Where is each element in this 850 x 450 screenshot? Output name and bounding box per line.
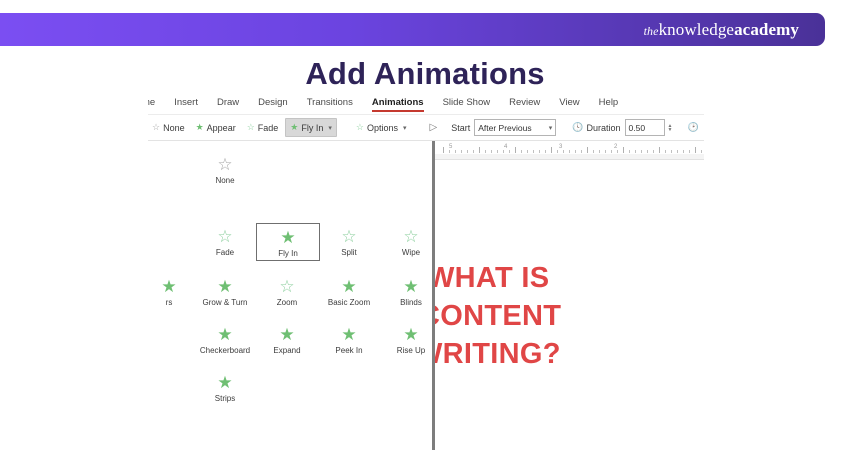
star-gray-icon: ☆ xyxy=(152,123,160,132)
ribbon-tab-label: Draw xyxy=(217,97,239,108)
ruler-tick xyxy=(593,150,594,153)
star-green-icon: ★ xyxy=(196,123,204,132)
gallery-item-label: None xyxy=(215,176,234,185)
ruler-tick xyxy=(491,150,492,153)
ribbon-tab-label: Slide Show xyxy=(443,97,491,108)
star-green-outline-icon: ☆ xyxy=(247,123,255,132)
ribbon-tab-design[interactable]: Design xyxy=(258,97,288,110)
ruler-tick xyxy=(587,147,588,153)
gallery-item-rs[interactable]: ★rs xyxy=(148,273,200,309)
ribbon-tab-label: me xyxy=(148,97,155,108)
ruler-tick xyxy=(455,150,456,153)
star-green-icon: ★ xyxy=(290,123,298,132)
ribbon-tab-me[interactable]: me xyxy=(148,97,155,110)
ruler-number: 4 xyxy=(504,144,507,150)
toolbar-options-button[interactable]: ☆ Options ▾ xyxy=(352,119,411,136)
ruler-tick xyxy=(623,147,624,153)
gallery-item-zoom[interactable]: ☆Zoom xyxy=(256,273,318,309)
toolbar-preview-button[interactable]: ▷ xyxy=(426,119,442,136)
gallery-item-label: Fade xyxy=(216,248,234,257)
ruler-tick xyxy=(611,150,612,153)
ruler-strip xyxy=(435,154,704,160)
gallery-item-label: Strips xyxy=(215,394,235,403)
chevron-down-icon[interactable]: ▾ xyxy=(328,124,332,132)
ribbon-tab-transitions[interactable]: Transitions xyxy=(307,97,353,110)
ruler-tick xyxy=(467,150,468,153)
star-green-icon: ★ xyxy=(403,325,418,344)
star-green-icon: ★ xyxy=(217,325,232,344)
gallery-item-peek-in[interactable]: ★Peek In xyxy=(318,321,380,357)
ruler-tick xyxy=(581,150,582,153)
gallery-item-label: Fly In xyxy=(278,249,298,258)
star-zoom-icon: ☆ xyxy=(279,277,294,296)
ruler-tick xyxy=(665,150,666,153)
gallery-item-strips[interactable]: ★Strips xyxy=(194,369,256,405)
toolbar-flyin-label: Fly In xyxy=(301,123,323,133)
ruler-tick xyxy=(629,150,630,153)
ruler-tick xyxy=(503,150,504,153)
ruler-tick xyxy=(635,150,636,153)
ribbon-tab-label: Review xyxy=(509,97,540,108)
ribbon-tab-label: Help xyxy=(599,97,619,108)
animation-gallery: ☆None☆Fade★Fly In☆Split☆Wipe★rs★Grow & T… xyxy=(148,141,432,450)
ruler-tick xyxy=(689,150,690,153)
play-triangle-icon: ▷ xyxy=(430,122,438,133)
ribbon-tab-label: Design xyxy=(258,97,288,108)
gallery-item-grow-turn[interactable]: ★Grow & Turn xyxy=(194,273,256,309)
ruler-tick xyxy=(605,150,606,153)
ruler-tick xyxy=(599,150,600,153)
ruler-tick xyxy=(677,150,678,153)
toolbar-duration-label: Duration xyxy=(586,123,620,133)
ruler-tick xyxy=(575,150,576,153)
slide-text-line: WHAT IS xyxy=(435,259,561,297)
ruler-tick xyxy=(701,150,702,153)
gallery-item-split[interactable]: ☆Split xyxy=(318,223,380,259)
duration-stepper[interactable]: ▲▼ xyxy=(668,124,673,132)
ruler-tick xyxy=(449,150,450,153)
ruler-tick xyxy=(683,150,684,153)
star-outline-icon: ☆ xyxy=(217,227,232,246)
toolbar-appear-label: Appear xyxy=(207,123,236,133)
powerpoint-window: meInsertDrawDesignTransitionsAnimationsS… xyxy=(148,92,704,450)
gallery-item-checkerboard[interactable]: ★Checkerboard xyxy=(194,321,256,357)
ribbon-tab-slide-show[interactable]: Slide Show xyxy=(443,97,491,110)
ruler-tick xyxy=(479,147,480,153)
ruler-tick xyxy=(695,147,696,153)
ruler-tick xyxy=(545,150,546,153)
gallery-item-label: Grow & Turn xyxy=(203,298,248,307)
brand-logo-academy: academy xyxy=(734,20,799,39)
gallery-item-basic-zoom[interactable]: ★Basic Zoom xyxy=(318,273,380,309)
ruler-tick xyxy=(551,147,552,153)
slide-editing-area: 5432 WHAT ISCONTENTWRITING? 0 ⚑ xyxy=(435,141,704,450)
duration-input-value: 0.50 xyxy=(629,123,646,133)
ruler-tick xyxy=(653,150,654,153)
ruler-number: 2 xyxy=(614,144,617,150)
ribbon-tab-bar: meInsertDrawDesignTransitionsAnimationsS… xyxy=(148,92,704,115)
start-select-value: After Previous xyxy=(478,123,531,133)
ribbon-tab-help[interactable]: Help xyxy=(599,97,619,110)
start-select[interactable]: After Previous ▾ xyxy=(474,119,556,136)
gallery-item-fade[interactable]: ☆Fade xyxy=(194,223,256,259)
slide-text-line: WRITING? xyxy=(435,335,561,373)
page-title: Add Animations xyxy=(0,56,850,92)
toolbar-start-group: Start After Previous ▾ xyxy=(444,119,560,136)
gallery-item-expand[interactable]: ★Expand xyxy=(256,321,318,357)
ribbon-tab-label: View xyxy=(559,97,579,108)
star-green-icon: ★ xyxy=(280,228,295,247)
slide-text-line: CONTENT xyxy=(435,297,561,335)
toolbar-fade-button[interactable]: ☆ Fade xyxy=(243,119,283,136)
ribbon-tab-draw[interactable]: Draw xyxy=(217,97,239,110)
clock-icon: 🕓 xyxy=(572,122,583,133)
gallery-item-label: Expand xyxy=(273,346,300,355)
ruler-tick xyxy=(527,150,528,153)
gallery-item-none[interactable]: ☆None xyxy=(194,151,256,187)
star-outline-icon: ☆ xyxy=(403,227,418,246)
ribbon-tab-label: Insert xyxy=(174,97,198,108)
star-gray-icon: ☆ xyxy=(217,155,232,174)
clock-red-icon: 🕑 xyxy=(687,122,698,133)
ruler-tick xyxy=(521,150,522,153)
star-split-icon: ☆ xyxy=(341,227,356,246)
toolbar-fade-label: Fade xyxy=(258,123,279,133)
ruler-number: 5 xyxy=(449,144,452,150)
star-clipped-icon: ★ xyxy=(161,277,176,296)
brand-logo: theknowledgeacademy xyxy=(644,20,825,40)
slide-title-text[interactable]: WHAT ISCONTENTWRITING? xyxy=(435,259,561,373)
ruler-tick xyxy=(641,150,642,153)
ribbon-tab-view[interactable]: View xyxy=(559,97,579,110)
ruler-tick xyxy=(617,150,618,153)
ruler-tick xyxy=(473,150,474,153)
ruler-tick xyxy=(557,150,558,153)
gallery-item-label: Wipe xyxy=(402,248,420,257)
ribbon-toolbar: ☆ None ★ Appear ☆ Fade ★ Fly In ▾ ☆ Opti… xyxy=(148,115,704,141)
toolbar-delay-group[interactable]: 🕑 xyxy=(683,119,702,136)
gallery-item-label: Zoom xyxy=(277,298,297,307)
gallery-item-label: Basic Zoom xyxy=(328,298,370,307)
duration-input[interactable]: 0.50 xyxy=(625,119,665,136)
star-green-icon: ★ xyxy=(403,277,418,296)
ruler-tick xyxy=(659,147,660,153)
ribbon-tab-insert[interactable]: Insert xyxy=(174,97,198,110)
toolbar-duration-group: 🕓 Duration 0.50 ▲▼ xyxy=(568,119,676,136)
ruler-tick xyxy=(671,150,672,153)
ruler-tick xyxy=(569,150,570,153)
toolbar-none-label: None xyxy=(163,123,185,133)
star-green-icon: ★ xyxy=(279,325,294,344)
star-green-icon: ★ xyxy=(341,325,356,344)
ruler-tick xyxy=(443,147,444,153)
toolbar-appear-button[interactable]: ★ Appear xyxy=(192,119,240,136)
gallery-item-label: Checkerboard xyxy=(200,346,250,355)
gallery-item-label: Blinds xyxy=(400,298,422,307)
ribbon-tab-label: Transitions xyxy=(307,97,353,108)
brand-header: theknowledgeacademy xyxy=(0,13,825,46)
star-green-icon: ★ xyxy=(341,277,356,296)
toolbar-none-button[interactable]: ☆ None xyxy=(148,119,189,136)
star-outline-icon: ☆ xyxy=(356,123,364,132)
brand-logo-knowledge: knowledge xyxy=(659,20,735,39)
ribbon-tab-review[interactable]: Review xyxy=(509,97,540,110)
gallery-item-label: Split xyxy=(341,248,357,257)
brand-logo-the: the xyxy=(644,24,659,38)
chevron-down-icon[interactable]: ▾ xyxy=(549,124,553,132)
gallery-item-fly-in[interactable]: ★Fly In xyxy=(256,223,320,261)
ruler-tick xyxy=(497,150,498,153)
toolbar-flyin-button[interactable]: ★ Fly In ▾ xyxy=(285,118,337,137)
gallery-item-label: rs xyxy=(166,298,173,307)
toolbar-start-label: Start xyxy=(451,123,470,133)
ruler-tick xyxy=(485,150,486,153)
toolbar-options-label: Options xyxy=(367,123,398,133)
ribbon-tab-label: Animations xyxy=(372,97,424,108)
star-grow-turn-icon: ★ xyxy=(217,277,232,296)
ruler-tick xyxy=(509,150,510,153)
ruler-tick xyxy=(647,150,648,153)
ruler-tick xyxy=(461,150,462,153)
gallery-item-label: Peek In xyxy=(335,346,362,355)
ruler-tick xyxy=(533,150,534,153)
ribbon-tab-animations[interactable]: Animations xyxy=(372,97,424,110)
ruler-tick xyxy=(539,150,540,153)
chevron-down-icon[interactable]: ▾ xyxy=(403,124,407,132)
ruler-tick xyxy=(515,147,516,153)
ruler-number: 3 xyxy=(559,144,562,150)
gallery-item-label: Rise Up xyxy=(397,346,425,355)
star-green-icon: ★ xyxy=(217,373,232,392)
ruler-tick xyxy=(563,150,564,153)
